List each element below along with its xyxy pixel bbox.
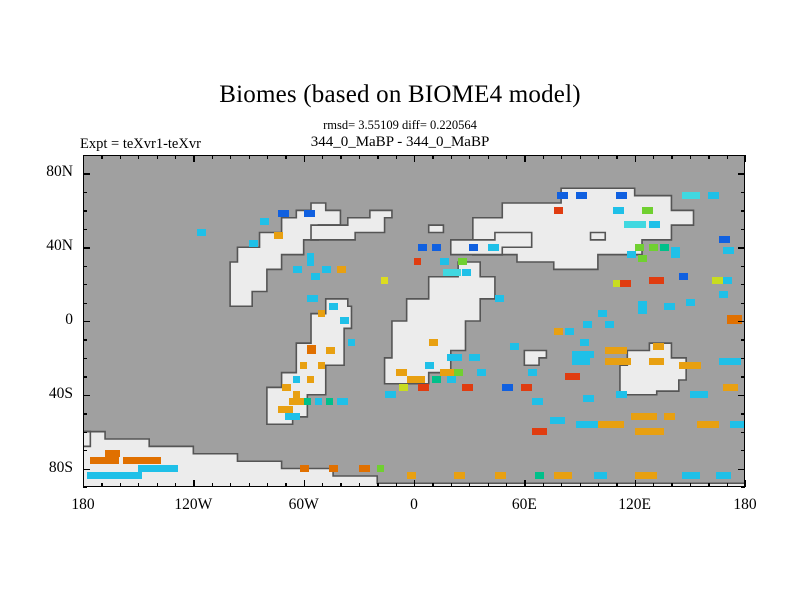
- axis-tick: [230, 155, 231, 159]
- axis-tick: [249, 155, 250, 159]
- axis-tick: [727, 155, 728, 159]
- x-tick-label-4: 60E: [484, 496, 564, 514]
- axis-tick: [741, 155, 745, 156]
- axis-tick: [83, 321, 90, 322]
- axis-tick: [741, 487, 745, 488]
- x-tick-label-6: 180: [705, 496, 785, 514]
- x-tick-label-1: 120W: [153, 496, 233, 514]
- axis-tick: [561, 483, 562, 487]
- axis-tick: [83, 173, 90, 174]
- case-label: 344_0_MaBP - 344_0_MaBP: [0, 134, 800, 151]
- axis-tick: [285, 483, 286, 487]
- y-tick-label-4: 80S: [13, 459, 73, 477]
- axis-tick: [230, 483, 231, 487]
- axis-tick: [83, 480, 84, 487]
- y-tick-label-0: 80N: [13, 163, 73, 181]
- axis-tick: [671, 155, 672, 159]
- axis-tick: [741, 413, 745, 414]
- axis-tick: [414, 480, 415, 487]
- x-tick-label-2: 60W: [264, 496, 344, 514]
- axis-tick: [101, 483, 102, 487]
- axis-tick: [580, 155, 581, 159]
- axis-tick: [741, 376, 745, 377]
- axis-tick: [506, 155, 507, 159]
- axis-tick: [738, 173, 745, 174]
- axis-tick: [83, 266, 87, 267]
- axis-tick: [741, 192, 745, 193]
- axis-tick: [653, 155, 654, 159]
- axis-tick: [741, 432, 745, 433]
- axis-tick: [83, 487, 87, 488]
- axis-tick: [157, 483, 158, 487]
- axis-tick: [83, 210, 87, 211]
- axis-tick: [212, 155, 213, 159]
- axis-tick: [83, 303, 87, 304]
- axis-tick: [745, 155, 746, 162]
- axis-tick: [738, 247, 745, 248]
- axis-tick: [120, 483, 121, 487]
- biome-difference-map: [83, 155, 745, 487]
- axis-tick: [469, 483, 470, 487]
- axis-tick: [488, 155, 489, 159]
- axis-tick: [83, 358, 87, 359]
- stats-line: rmsd= 3.55109 diff= 0.220564: [0, 118, 800, 133]
- y-tick-label-3: 40S: [13, 385, 73, 403]
- axis-tick: [396, 155, 397, 159]
- y-tick-label-2: 0: [13, 311, 73, 329]
- axis-tick: [267, 155, 268, 159]
- axis-tick: [738, 395, 745, 396]
- axis-tick: [741, 284, 745, 285]
- x-tick-label-5: 120E: [595, 496, 675, 514]
- axis-tick: [598, 155, 599, 159]
- axis-tick: [396, 483, 397, 487]
- axis-tick: [616, 155, 617, 159]
- axis-tick: [157, 155, 158, 159]
- axis-tick: [741, 266, 745, 267]
- axis-tick: [83, 469, 90, 470]
- axis-tick: [304, 155, 305, 162]
- axis-tick: [249, 483, 250, 487]
- axis-tick: [83, 229, 87, 230]
- axis-tick: [83, 413, 87, 414]
- axis-tick: [83, 247, 90, 248]
- axis-tick: [322, 483, 323, 487]
- axis-tick: [377, 483, 378, 487]
- axis-tick: [738, 469, 745, 470]
- axis-tick: [741, 210, 745, 211]
- map-plot-area: [83, 155, 745, 487]
- axis-tick: [690, 483, 691, 487]
- axis-tick: [212, 483, 213, 487]
- axis-tick: [469, 155, 470, 159]
- x-tick-label-0: 180: [43, 496, 123, 514]
- axis-tick: [83, 450, 87, 451]
- axis-tick: [432, 155, 433, 159]
- axis-tick: [340, 483, 341, 487]
- axis-tick: [524, 480, 525, 487]
- axis-tick: [653, 483, 654, 487]
- axis-tick: [561, 155, 562, 159]
- axis-tick: [741, 450, 745, 451]
- axis-tick: [175, 155, 176, 159]
- axis-tick: [359, 155, 360, 159]
- axis-tick: [101, 155, 102, 159]
- axis-tick: [138, 483, 139, 487]
- axis-tick: [738, 321, 745, 322]
- axis-tick: [83, 376, 87, 377]
- axis-tick: [741, 303, 745, 304]
- axis-tick: [451, 155, 452, 159]
- axis-tick: [580, 483, 581, 487]
- axis-tick: [193, 480, 194, 487]
- axis-tick: [83, 192, 87, 193]
- axis-tick: [543, 155, 544, 159]
- axis-tick: [451, 483, 452, 487]
- axis-tick: [322, 155, 323, 159]
- page-title: Biomes (based on BIOME4 model): [0, 81, 800, 109]
- axis-tick: [635, 480, 636, 487]
- axis-tick: [120, 155, 121, 159]
- axis-tick: [543, 483, 544, 487]
- axis-tick: [267, 483, 268, 487]
- axis-tick: [414, 155, 415, 162]
- axis-tick: [708, 483, 709, 487]
- axis-tick: [83, 432, 87, 433]
- axis-tick: [745, 480, 746, 487]
- axis-tick: [83, 339, 87, 340]
- axis-tick: [340, 155, 341, 159]
- axis-tick: [175, 483, 176, 487]
- y-tick-label-1: 40N: [13, 237, 73, 255]
- axis-tick: [506, 483, 507, 487]
- axis-tick: [304, 480, 305, 487]
- axis-tick: [671, 483, 672, 487]
- axis-tick: [83, 395, 90, 396]
- axis-tick: [741, 229, 745, 230]
- axis-tick: [285, 155, 286, 159]
- x-tick-label-3: 0: [374, 496, 454, 514]
- axis-tick: [377, 155, 378, 159]
- axis-tick: [524, 155, 525, 162]
- axis-tick: [359, 483, 360, 487]
- axis-tick: [83, 284, 87, 285]
- axis-tick: [193, 155, 194, 162]
- axis-tick: [727, 483, 728, 487]
- axis-tick: [616, 483, 617, 487]
- axis-tick: [598, 483, 599, 487]
- axis-tick: [690, 155, 691, 159]
- axis-tick: [741, 339, 745, 340]
- axis-tick: [83, 155, 87, 156]
- axis-tick: [741, 358, 745, 359]
- axis-tick: [488, 483, 489, 487]
- figure-canvas: Biomes (based on BIOME4 model) rmsd= 3.5…: [0, 0, 800, 600]
- axis-tick: [708, 155, 709, 159]
- axis-tick: [635, 155, 636, 162]
- axis-tick: [138, 155, 139, 159]
- axis-tick: [432, 483, 433, 487]
